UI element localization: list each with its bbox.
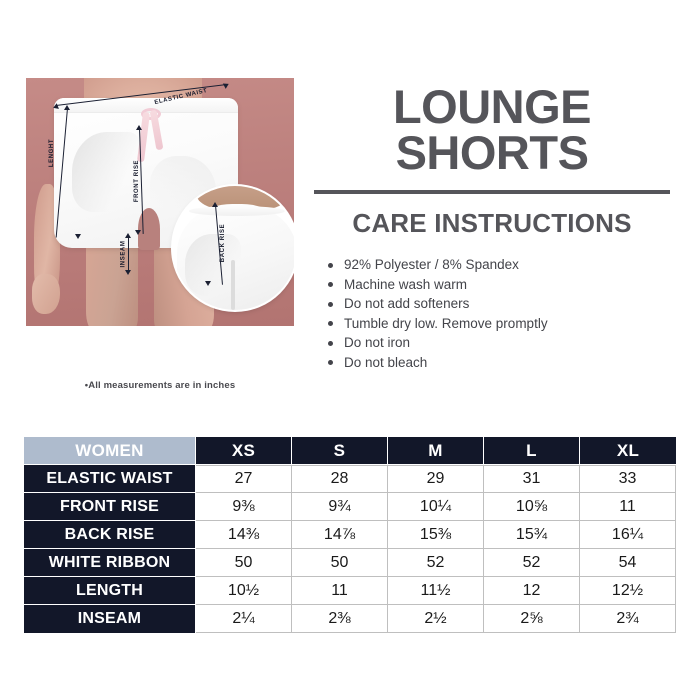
table-body: ELASTIC WAIST 27 28 29 31 33 FRONT RISE … — [24, 465, 676, 633]
arrowhead-icon — [205, 281, 211, 286]
table-row: BACK RISE 14⅜ 14⅞ 15⅜ 15¾ 16¼ — [24, 521, 676, 549]
table-header: WOMEN XS S M L XL — [24, 437, 676, 465]
cell-inseam-s: 2⅜ — [292, 605, 388, 633]
table-row: INSEAM 2¼ 2⅜ 2½ 2⅝ 2¾ — [24, 605, 676, 633]
page-title-line-1: LOUNGE — [306, 84, 678, 130]
table-corner-label: WOMEN — [24, 437, 196, 465]
cell-back-rise-l: 15¾ — [484, 521, 580, 549]
arrowhead-icon — [125, 233, 131, 238]
care-instructions-heading: CARE INSTRUCTIONS — [306, 208, 678, 239]
care-instruction-item: Machine wash warm — [328, 275, 678, 295]
cell-elastic-waist-xs: 27 — [196, 465, 292, 493]
cell-front-rise-l: 10⅝ — [484, 493, 580, 521]
page-title: LOUNGE SHORTS — [306, 84, 678, 176]
arrowhead-icon — [75, 234, 81, 239]
care-instruction-item: Tumble dry low. Remove promptly — [328, 314, 678, 334]
arrowhead-icon — [212, 202, 218, 207]
table-row: LENGTH 10½ 11 11½ 12 12½ — [24, 577, 676, 605]
product-photo: ELASTIC WAIST LENGHT FRONT RISE INSEAM — [26, 78, 294, 326]
arrowhead-icon — [64, 105, 70, 110]
size-chart-table: WOMEN XS S M L XL ELASTIC WAIST 27 28 29… — [24, 437, 676, 633]
cell-back-rise-m: 15⅜ — [388, 521, 484, 549]
model-hand — [32, 274, 60, 314]
row-label-elastic-waist: ELASTIC WAIST — [24, 465, 196, 493]
cell-length-xl: 12½ — [580, 577, 676, 605]
page-title-line-2: SHORTS — [306, 130, 678, 176]
header-and-care-column: LOUNGE SHORTS CARE INSTRUCTIONS 92% Poly… — [306, 84, 678, 372]
table-row: FRONT RISE 9⅜ 9¾ 10¼ 10⅝ 11 — [24, 493, 676, 521]
size-header-xl: XL — [580, 437, 676, 465]
care-instruction-item: Do not iron — [328, 333, 678, 353]
cell-front-rise-xs: 9⅜ — [196, 493, 292, 521]
cell-back-rise-xl: 16¼ — [580, 521, 676, 549]
cell-white-ribbon-xl: 54 — [580, 549, 676, 577]
cell-length-xs: 10½ — [196, 577, 292, 605]
inset-waistband — [189, 206, 285, 216]
size-chart-page: ELASTIC WAIST LENGHT FRONT RISE INSEAM — [0, 0, 700, 700]
product-photo-image: ELASTIC WAIST LENGHT FRONT RISE INSEAM — [26, 78, 294, 326]
title-divider — [314, 190, 670, 194]
cell-elastic-waist-xl: 33 — [580, 465, 676, 493]
size-header-m: M — [388, 437, 484, 465]
measurement-label-length: LENGHT — [49, 139, 55, 167]
arrowhead-icon — [135, 230, 141, 235]
cell-front-rise-s: 9¾ — [292, 493, 388, 521]
size-header-xs: XS — [196, 437, 292, 465]
care-instruction-item: Do not add softeners — [328, 294, 678, 314]
cell-white-ribbon-s: 50 — [292, 549, 388, 577]
row-label-length: LENGTH — [24, 577, 196, 605]
cell-inseam-xl: 2¾ — [580, 605, 676, 633]
fabric-fold — [72, 132, 142, 212]
care-instruction-item: 92% Polyester / 8% Spandex — [328, 255, 678, 275]
arrowhead-icon — [125, 270, 131, 275]
measurement-label-front-rise: FRONT RISE — [134, 160, 140, 202]
cell-elastic-waist-s: 28 — [292, 465, 388, 493]
care-instructions-list: 92% Polyester / 8% Spandex Machine wash … — [306, 255, 678, 372]
cell-back-rise-xs: 14⅜ — [196, 521, 292, 549]
cell-front-rise-xl: 11 — [580, 493, 676, 521]
table-row: WHITE RIBBON 50 50 52 52 54 — [24, 549, 676, 577]
cell-white-ribbon-xs: 50 — [196, 549, 292, 577]
top-section: ELASTIC WAIST LENGHT FRONT RISE INSEAM — [0, 0, 700, 412]
measurement-label-inseam: INSEAM — [120, 241, 126, 268]
inseam-line — [128, 236, 129, 272]
measurement-label-back-rise: BACK RISE — [220, 224, 226, 262]
measurements-footnote: •All measurements are in inches — [26, 380, 294, 391]
cell-length-l: 12 — [484, 577, 580, 605]
cell-white-ribbon-l: 52 — [484, 549, 580, 577]
row-label-white-ribbon: WHITE RIBBON — [24, 549, 196, 577]
size-header-s: S — [292, 437, 388, 465]
cell-elastic-waist-l: 31 — [484, 465, 580, 493]
cell-back-rise-s: 14⅞ — [292, 521, 388, 549]
row-label-front-rise: FRONT RISE — [24, 493, 196, 521]
inset-center-seam — [231, 260, 235, 310]
cell-length-s: 11 — [292, 577, 388, 605]
size-chart-table-wrapper: WOMEN XS S M L XL ELASTIC WAIST 27 28 29… — [24, 437, 676, 633]
cell-inseam-m: 2½ — [388, 605, 484, 633]
care-instruction-item: Do not bleach — [328, 353, 678, 373]
cell-inseam-l: 2⅝ — [484, 605, 580, 633]
cell-length-m: 11½ — [388, 577, 484, 605]
cell-white-ribbon-m: 52 — [388, 549, 484, 577]
arrowhead-icon — [136, 125, 142, 130]
row-label-inseam: INSEAM — [24, 605, 196, 633]
cell-front-rise-m: 10¼ — [388, 493, 484, 521]
size-header-l: L — [484, 437, 580, 465]
table-row: ELASTIC WAIST 27 28 29 31 33 — [24, 465, 676, 493]
cell-elastic-waist-m: 29 — [388, 465, 484, 493]
arrowhead-icon — [223, 81, 230, 89]
cell-inseam-xs: 2¼ — [196, 605, 292, 633]
table-header-row: WOMEN XS S M L XL — [24, 437, 676, 465]
drawstring-tie — [150, 110, 164, 151]
row-label-back-rise: BACK RISE — [24, 521, 196, 549]
back-rise-inset — [173, 186, 294, 310]
